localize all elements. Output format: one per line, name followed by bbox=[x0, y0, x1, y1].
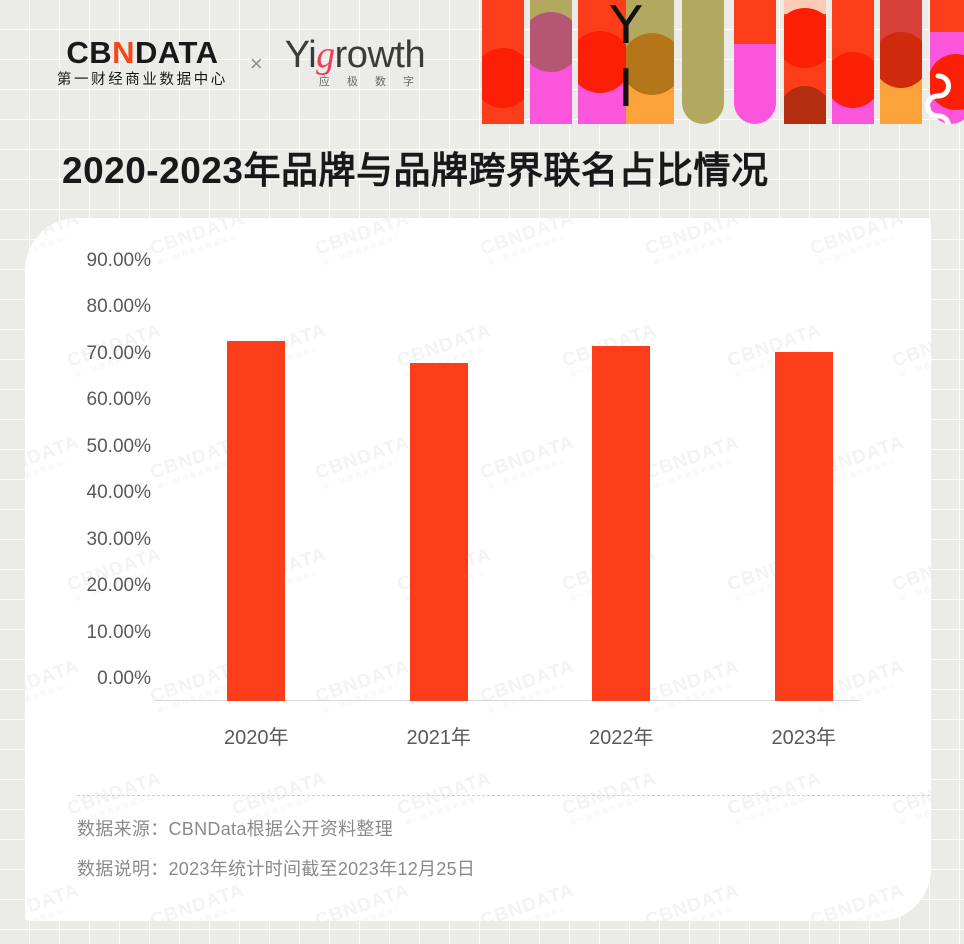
decorative-circle bbox=[784, 86, 826, 124]
decorative-circle bbox=[530, 12, 572, 72]
footnote-source: 数据来源：CBNData根据公开资料整理 bbox=[77, 815, 475, 841]
chart-card: CBNDATA第一财经商业数据中心CBNDATA第一财经商业数据中心CBNDAT… bbox=[25, 218, 931, 921]
watermark: CBNDATA第一财经商业数据中心 bbox=[808, 881, 910, 921]
yigrowth-logo: Yigrowth 应 极 数 字 bbox=[285, 36, 425, 89]
decorative-column bbox=[832, 0, 874, 124]
yigrowth-rowth: rowth bbox=[335, 34, 425, 76]
y-axis-tick-label: 0.00% bbox=[97, 668, 151, 690]
y-axis-tick-label: 40.00% bbox=[87, 482, 151, 504]
y-axis-tick-label: 60.00% bbox=[87, 389, 151, 411]
decorative-circle bbox=[832, 52, 874, 108]
y-axis-tick-label: 70.00% bbox=[87, 343, 151, 365]
footnotes: 数据来源：CBNData根据公开资料整理 数据说明：2023年统计时间截至202… bbox=[77, 815, 475, 881]
decorative-column bbox=[482, 0, 524, 124]
cbndata-subtitle: 第一财经商业数据中心 bbox=[57, 73, 228, 88]
decorative-banner: YING bbox=[482, 0, 964, 124]
decorative-circle bbox=[784, 8, 826, 68]
y-axis-tick-label: 30.00% bbox=[87, 529, 151, 551]
yigrowth-g: g bbox=[316, 34, 335, 76]
y-axis-tick-label: 20.00% bbox=[87, 575, 151, 597]
decorative-column bbox=[784, 0, 826, 124]
decorative-column bbox=[530, 0, 572, 124]
page-background: CBNDATA 第一财经商业数据中心 × Yigrowth 应 极 数 字 YI… bbox=[0, 0, 964, 944]
x-axis-tick-label: 2020年 bbox=[224, 721, 289, 750]
watermark: CBNDATA第一财经商业数据中心 bbox=[148, 881, 250, 921]
y-axis-tick-label: 50.00% bbox=[87, 436, 151, 458]
cbndata-wordmark-data: DATA bbox=[135, 37, 219, 68]
x-axis-tick-label: 2022年 bbox=[589, 721, 654, 750]
decorative-column bbox=[682, 0, 724, 124]
decorative-column bbox=[734, 0, 776, 124]
watermark: CBNDATA第一财经商业数据中心 bbox=[313, 881, 415, 921]
bar-chart: 90.00%80.00%70.00%60.00%50.00%40.00%30.0… bbox=[25, 218, 931, 778]
ying-decoration-text: YING bbox=[600, 0, 651, 124]
watermark: CBNDATA第一财经商业数据中心 bbox=[643, 881, 745, 921]
bar[interactable] bbox=[410, 363, 468, 701]
cbndata-wordmark-accent: N bbox=[112, 37, 135, 68]
cbndata-wordmark: CBNDATA bbox=[66, 37, 218, 68]
page-title: 2020-2023年品牌与品牌跨界联名占比情况 bbox=[62, 140, 768, 194]
bar[interactable] bbox=[227, 341, 285, 701]
watermark: CBNDATA第一财经商业数据中心 bbox=[25, 881, 85, 921]
logo-zone: CBNDATA 第一财经商业数据中心 × Yigrowth 应 极 数 字 bbox=[0, 0, 482, 124]
x-axis-tick-label: 2021年 bbox=[407, 721, 472, 750]
yigrowth-wordmark: Yigrowth bbox=[285, 36, 425, 76]
bar-group: 2023年 bbox=[713, 283, 896, 701]
y-axis-tick-label: 80.00% bbox=[87, 296, 151, 318]
yigrowth-subtitle: 应 极 数 字 bbox=[289, 77, 421, 88]
bar-group: 2022年 bbox=[530, 283, 713, 701]
yigrowth-yi: Yi bbox=[285, 34, 316, 76]
x-axis-tick-label: 2023年 bbox=[772, 721, 837, 750]
watermark: CBNDATA第一财经商业数据中心 bbox=[478, 881, 580, 921]
y-axis-tick-label: 90.00% bbox=[87, 250, 151, 272]
bar[interactable] bbox=[592, 346, 650, 701]
footer-divider bbox=[77, 795, 931, 796]
cbndata-logo: CBNDATA 第一财经商业数据中心 bbox=[57, 37, 228, 88]
page-header: CBNDATA 第一财经商业数据中心 × Yigrowth 应 极 数 字 YI… bbox=[0, 0, 964, 124]
swirl-decoration-icon bbox=[904, 70, 958, 124]
bar[interactable] bbox=[775, 352, 833, 701]
bar-group: 2020年 bbox=[165, 283, 348, 701]
partner-separator-icon: × bbox=[250, 51, 263, 77]
y-axis-tick-label: 10.00% bbox=[87, 622, 151, 644]
plot-area: 90.00%80.00%70.00%60.00%50.00%40.00%30.0… bbox=[165, 283, 895, 701]
bar-group: 2021年 bbox=[348, 283, 531, 701]
decorative-circle bbox=[482, 48, 524, 108]
footnote-note: 数据说明：2023年统计时间截至2023年12月25日 bbox=[77, 855, 475, 881]
cbndata-wordmark-cb: CB bbox=[66, 37, 112, 68]
